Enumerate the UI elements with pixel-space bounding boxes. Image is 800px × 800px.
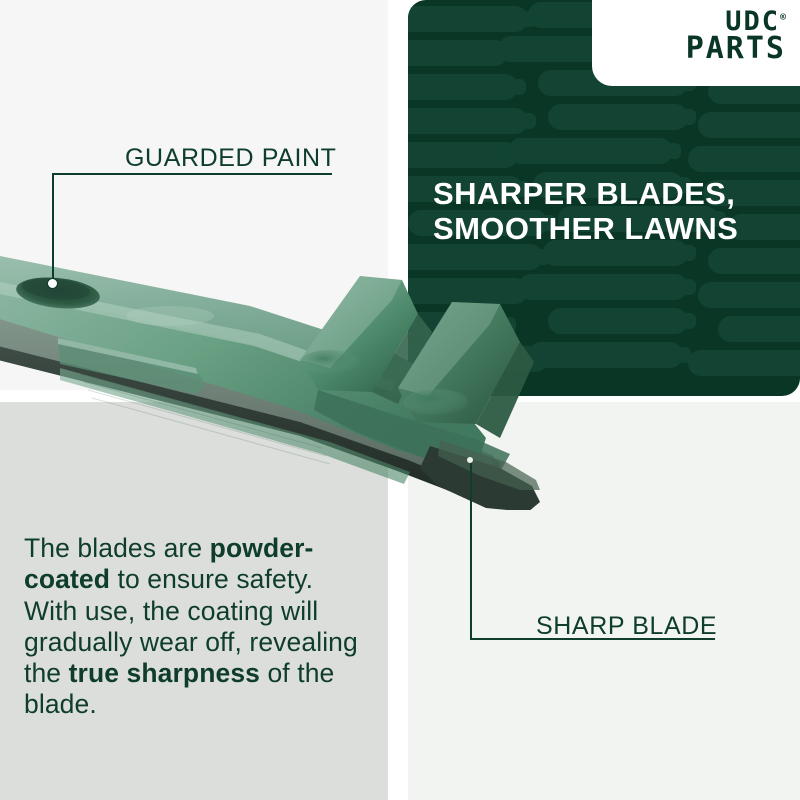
watermark-pill <box>408 346 548 372</box>
watermark-pill-nub <box>682 109 696 125</box>
watermark-pill <box>408 244 543 270</box>
watermark-pill <box>408 108 528 134</box>
panel-top-left <box>0 0 388 390</box>
watermark-pill <box>698 112 800 138</box>
watermark-pill-nub <box>522 113 536 129</box>
watermark-pill <box>698 282 800 308</box>
watermark-pill <box>408 6 528 32</box>
watermark-pill-nub <box>682 245 696 261</box>
watermark-pill <box>708 248 800 274</box>
product-feature-graphic: UDC® PARTS SHARPER BLADES, SMOOTHER LAWN… <box>0 0 800 800</box>
watermark-pill <box>518 274 688 300</box>
registered-trademark-icon: ® <box>780 12 786 23</box>
headline: SHARPER BLADES, SMOOTHER LAWNS <box>433 176 783 247</box>
watermark-pill-nub <box>512 79 526 95</box>
callout-label-guarded-paint: GUARDED PAINT <box>125 144 337 173</box>
watermark-pill <box>688 350 800 376</box>
callout-rule-guarded-paint <box>52 173 332 175</box>
watermark-pill <box>408 312 508 338</box>
brand-logo: UDC® PARTS <box>686 10 786 62</box>
watermark-pill <box>718 316 800 342</box>
logo-text-parts: PARTS <box>686 35 786 63</box>
callout-label-sharp-blade: SHARP BLADE <box>536 612 717 641</box>
watermark-pill <box>548 308 688 334</box>
callout-marker-dot-sharp-blade <box>467 457 473 463</box>
watermark-pill-nub <box>667 143 681 159</box>
watermark-pill <box>408 278 528 304</box>
callout-leader-line-sharp-blade <box>470 461 472 639</box>
watermark-pill <box>408 142 518 168</box>
callout-marker-dot-guarded-paint <box>47 278 58 289</box>
callout-rule-sharp-blade <box>470 638 715 640</box>
watermark-pill-nub <box>502 317 516 333</box>
headline-line-2: SMOOTHER LAWNS <box>433 211 783 246</box>
watermark-pill <box>548 104 688 130</box>
watermark-pill <box>408 74 518 100</box>
watermark-pill-nub <box>682 313 696 329</box>
body-copy-seg-1: The blades are <box>24 533 210 563</box>
body-copy-bold-true-sharpness: true sharpness <box>69 658 260 688</box>
watermark-pill <box>408 40 508 66</box>
body-copy: The blades are powder-coated to ensure s… <box>24 533 369 721</box>
watermark-pill <box>508 138 673 164</box>
watermark-pill <box>688 146 800 172</box>
callout-leader-line-guarded-paint <box>52 173 54 285</box>
watermark-pill <box>528 342 683 368</box>
watermark-pill-nub <box>682 279 696 295</box>
headline-line-1: SHARPER BLADES, <box>433 176 783 211</box>
